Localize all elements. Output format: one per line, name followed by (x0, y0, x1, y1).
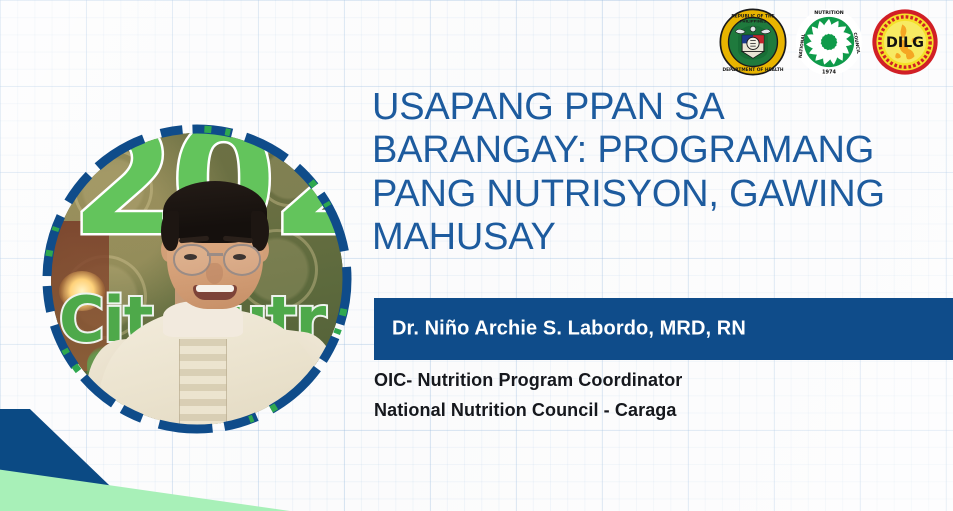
speaker-portrait: 202 Cit Nutr n Ce (42, 124, 352, 434)
svg-text:DEPARTMENT OF HEALTH: DEPARTMENT OF HEALTH (722, 67, 783, 73)
speaker-organization: National Nutrition Council - Caraga (374, 400, 677, 421)
speaker-role: OIC- Nutrition Program Coordinator (374, 370, 682, 391)
dilg-label: DILG (886, 35, 924, 51)
speaker-name-bar: Dr. Niño Archie S. Labordo, MRD, RN (374, 298, 953, 360)
svg-text:PHILIPPINES: PHILIPPINES (740, 18, 767, 23)
svg-text:NUTRITION: NUTRITION (814, 10, 844, 16)
nnc-logo: NUTRITION NATIONAL COUNCIL 1974 (795, 8, 863, 76)
presentation-slide: 202 Cit Nutr n Ce (0, 0, 953, 511)
speaker-name: Dr. Niño Archie S. Labordo, MRD, RN (392, 318, 746, 341)
portrait-dashed-ring (42, 124, 352, 434)
logo-row: REPUBLIC OF THE DEPARTMENT OF HEALTH PHI… (719, 8, 939, 76)
slide-title: USAPANG PPAN SA BARANGAY: PROGRAMANG PAN… (372, 86, 944, 259)
svg-text:1974: 1974 (822, 69, 836, 75)
dilg-logo: DILG (871, 8, 939, 76)
doh-logo: REPUBLIC OF THE DEPARTMENT OF HEALTH PHI… (719, 8, 787, 76)
